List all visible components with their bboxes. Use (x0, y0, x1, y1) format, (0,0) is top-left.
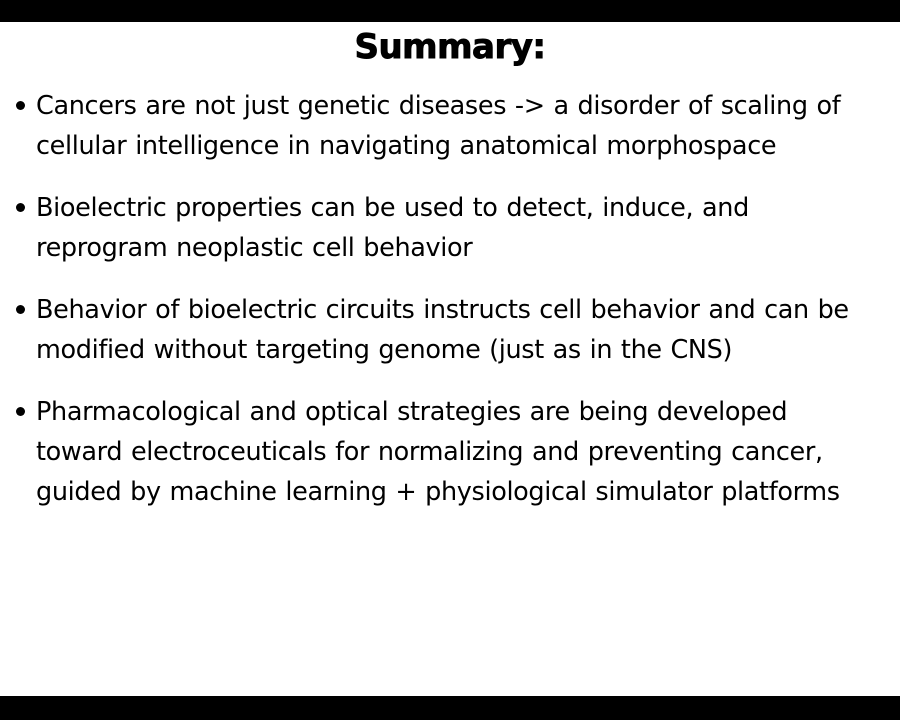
summary-bullet-list: Cancers are not just genetic diseases ->… (0, 86, 900, 512)
bullet-dot-icon (16, 407, 25, 416)
list-item: Bioelectric properties can be used to de… (0, 188, 900, 268)
list-item: Pharmacological and optical strategies a… (0, 392, 900, 512)
list-item-text: Behavior of bioelectric circuits instruc… (36, 290, 878, 370)
list-item-text: Bioelectric properties can be used to de… (36, 188, 878, 268)
slide-canvas: Summary: Cancers are not just genetic di… (0, 0, 900, 720)
letterbox-bar-top (0, 0, 900, 22)
bullet-dot-icon (16, 203, 25, 212)
list-item-text: Cancers are not just genetic diseases ->… (36, 86, 878, 166)
letterbox-bar-bottom (0, 696, 900, 720)
list-item: Behavior of bioelectric circuits instruc… (0, 290, 900, 370)
slide-left-edge (0, 22, 2, 696)
bullet-dot-icon (16, 101, 25, 110)
list-item: Cancers are not just genetic diseases ->… (0, 86, 900, 166)
list-item-text: Pharmacological and optical strategies a… (36, 392, 878, 512)
slide-content-area: Summary: Cancers are not just genetic di… (0, 22, 900, 696)
page-title: Summary: (0, 26, 900, 68)
bullet-dot-icon (16, 305, 25, 314)
